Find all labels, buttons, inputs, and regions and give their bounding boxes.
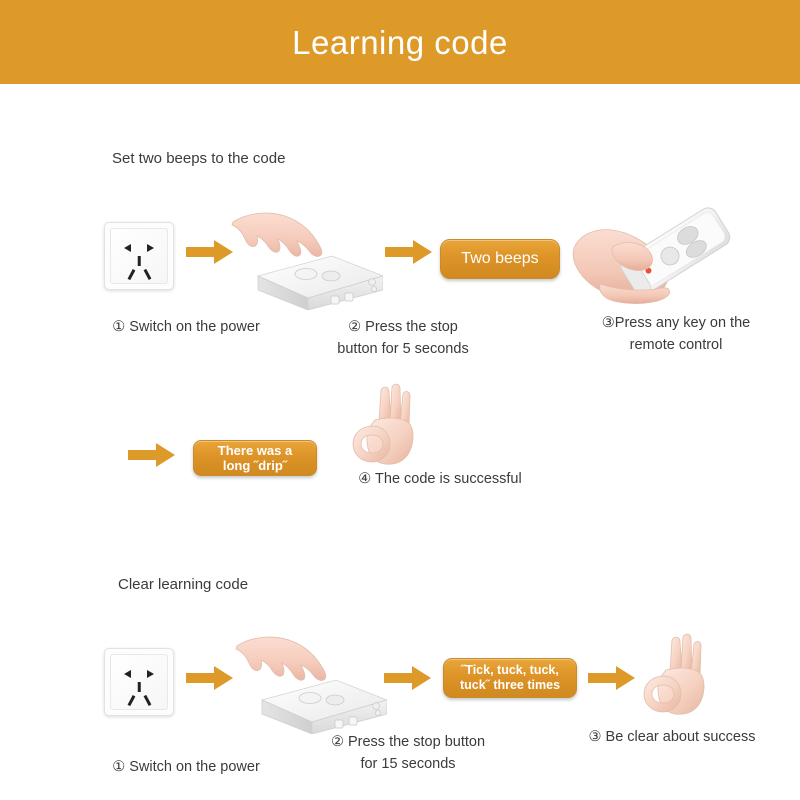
page-header-banner: Learning code <box>0 0 800 84</box>
step-caption-1-1: ① Switch on the power <box>76 316 296 338</box>
socket-faceplate <box>110 228 168 284</box>
step-caption-1-4: ④ The code is successful <box>330 468 550 490</box>
step-caption-2-3: ③ Be clear about success <box>548 726 796 748</box>
arrow-right-icon-5 <box>384 664 432 692</box>
arrow-right-icon-2 <box>385 238 433 266</box>
socket-three-pin-slot-2 <box>124 682 154 708</box>
socket-two-pin-slot-2 <box>124 670 154 678</box>
page-title: Learning code <box>292 26 508 59</box>
badge-long-drip: There was a long ˝drip˝ <box>193 440 317 476</box>
step-caption-2-1: ① Switch on the power <box>76 756 296 778</box>
socket-faceplate-2 <box>110 654 168 710</box>
socket-three-pin-slot <box>124 256 154 282</box>
step-caption-1-2: ② Press the stop button for 5 seconds <box>300 316 506 361</box>
wall-socket-icon-2 <box>104 648 174 716</box>
wall-socket-icon <box>104 222 174 290</box>
badge-tick-tuck-three-times: ˝Tick, tuck, tuck, tuck˝ three times <box>443 658 577 698</box>
socket-two-pin-slot <box>124 244 154 252</box>
step-caption-1-3: ③Press any key on the remote control <box>560 312 792 357</box>
section-heading-clear-learning-code: Clear learning code <box>118 576 248 593</box>
hand-holding-remote-icon <box>570 196 740 311</box>
hand-pressing-smart-plug-icon-2 <box>232 624 387 734</box>
arrow-right-icon-6 <box>588 664 636 692</box>
arrow-right-icon-3 <box>128 441 176 469</box>
badge-two-beeps: Two beeps <box>440 239 560 279</box>
hand-pressing-smart-plug-icon <box>228 200 383 310</box>
arrow-right-icon-1 <box>186 238 234 266</box>
ok-hand-gesture-icon-2 <box>638 632 714 718</box>
ok-hand-gesture-icon-1 <box>347 382 423 468</box>
step-caption-2-2: ② Press the stop button for 15 seconds <box>296 731 520 776</box>
arrow-right-icon-4 <box>186 664 234 692</box>
section-heading-set-two-beeps: Set two beeps to the code <box>112 150 285 167</box>
